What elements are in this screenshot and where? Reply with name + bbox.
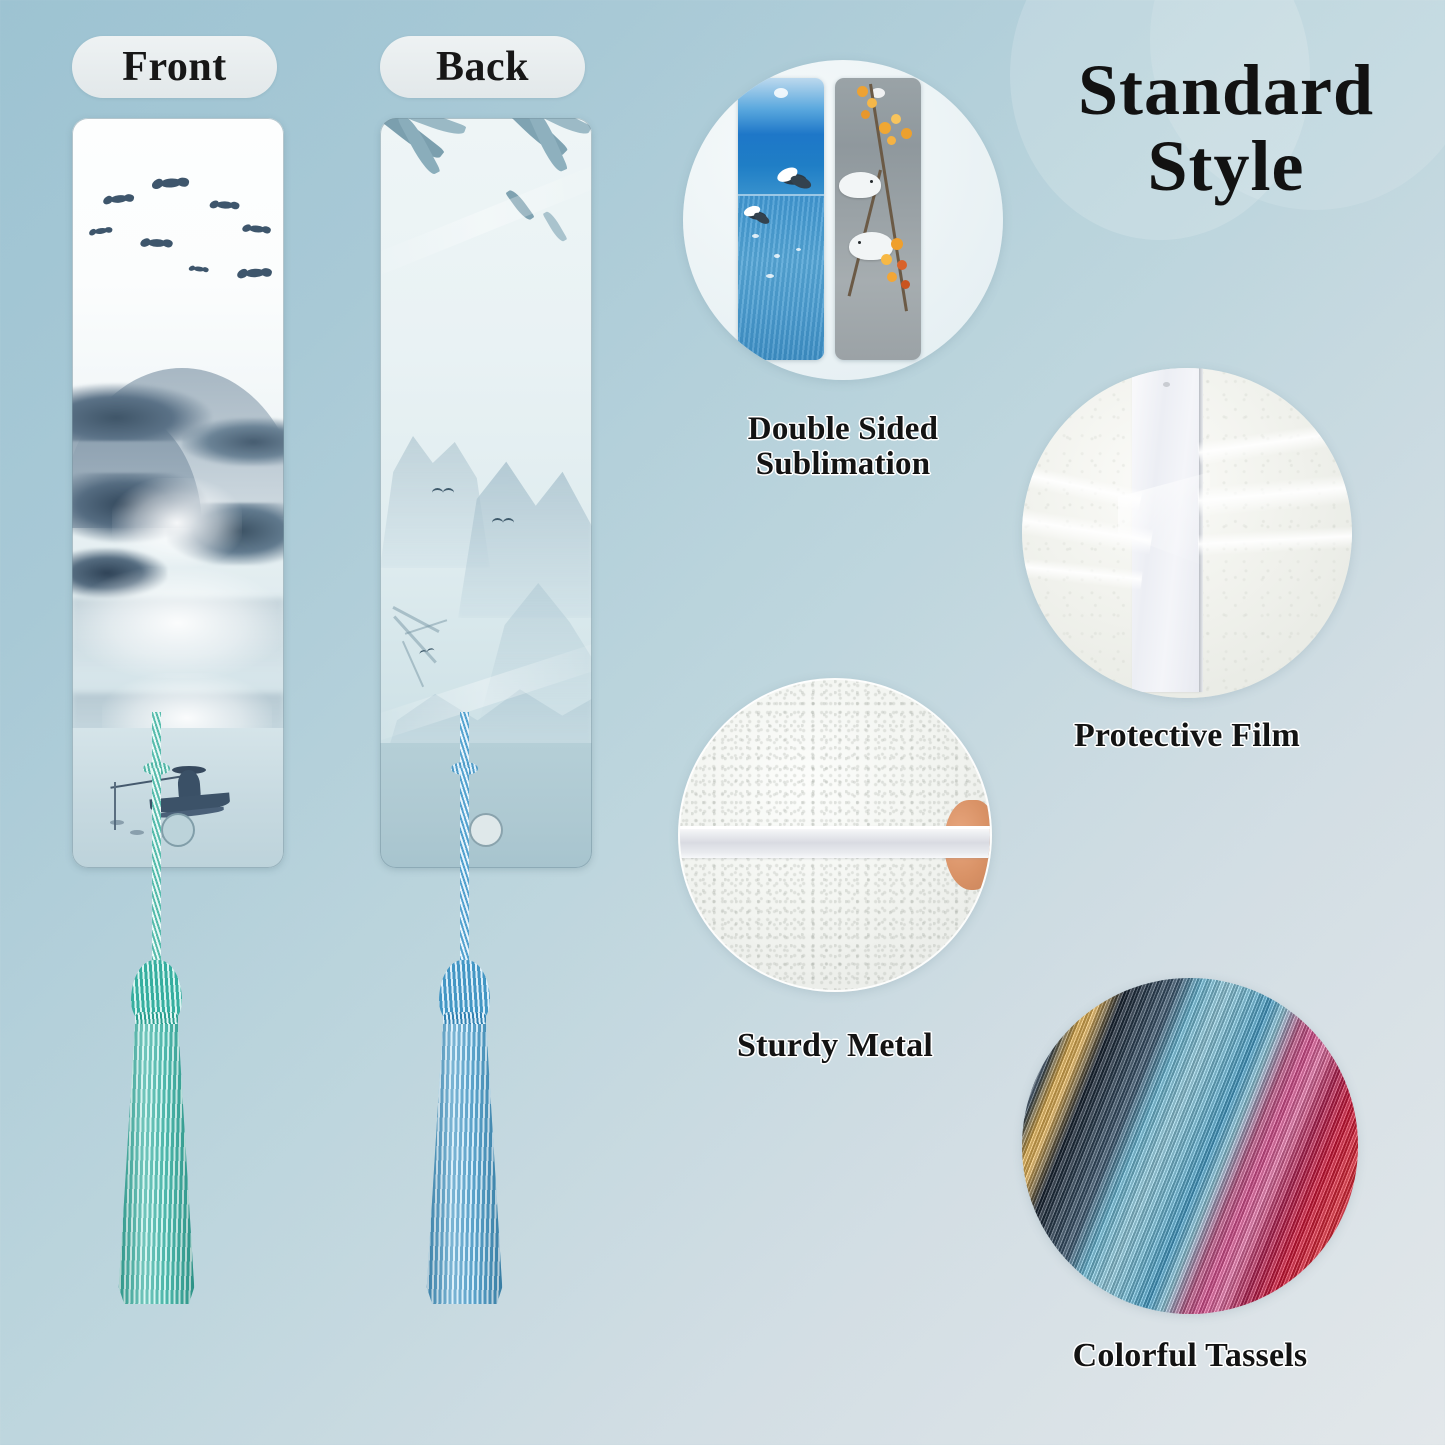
- feature-label-line-1: Double Sided: [748, 411, 938, 447]
- mist-highlight-2: [72, 568, 284, 678]
- mist-highlight-1: [112, 478, 242, 568]
- front-view-label: Front: [72, 36, 277, 98]
- gull-icon: [432, 488, 454, 496]
- distant-bird-speck: [796, 248, 801, 251]
- front-artwork: [72, 118, 284, 868]
- feature-label-line-1: Sturdy Metal: [737, 1027, 933, 1064]
- small-fish-mark: [130, 830, 144, 835]
- back-artwork: [380, 118, 592, 868]
- thumbnail-birds-on-berry-branch: [835, 78, 921, 360]
- tassel-skirt: [118, 1024, 195, 1304]
- berry: [857, 86, 868, 97]
- feature-label-double-sided-sublimation: Double Sided Sublimation: [683, 412, 1003, 482]
- page-title: Standard Style: [1026, 52, 1426, 205]
- berry: [879, 122, 891, 134]
- berry: [891, 114, 901, 124]
- feature-label-line-2: Sublimation: [756, 446, 931, 482]
- flying-bird-icon: [193, 266, 205, 272]
- berry: [861, 110, 870, 119]
- berry: [887, 136, 896, 145]
- bookmark-back-view[interactable]: [380, 118, 592, 868]
- metal-strip: [680, 826, 992, 858]
- bamboo-stem: [405, 619, 447, 634]
- feature-label-line-1: Protective Film: [1074, 717, 1300, 754]
- bird-eye: [870, 180, 873, 183]
- page-title-line-2: Style: [1026, 128, 1426, 204]
- bookmark-front-view[interactable]: [72, 118, 284, 868]
- berry: [891, 238, 903, 250]
- flying-bird-icon: [216, 201, 233, 209]
- berry: [881, 254, 892, 265]
- flying-bird-icon: [110, 194, 128, 203]
- white-bird-upper: [839, 172, 881, 198]
- seabird-wing-dark: [789, 173, 813, 191]
- misty-mountain-2: [458, 448, 592, 618]
- back-view-label: Back: [380, 36, 585, 98]
- thumbnail-tassel-hole: [774, 88, 788, 98]
- tassel-skirt-shading: [118, 1024, 195, 1304]
- feature-circle-protective-film: [1022, 368, 1352, 698]
- metal-strip-highlight: [680, 826, 992, 829]
- feature-circle-double-sided-sublimation: [683, 60, 1003, 380]
- foreground-water: [380, 743, 592, 868]
- gull-icon: [492, 518, 514, 526]
- tassel-cord-lower: [152, 768, 161, 968]
- flying-bird-icon: [249, 225, 266, 233]
- feature-label-sturdy-metal: Sturdy Metal: [672, 1028, 998, 1064]
- feature-circle-colorful-tassels: [1022, 978, 1358, 1314]
- berry: [897, 260, 907, 270]
- flying-bird-icon: [160, 178, 182, 188]
- bird-eye: [858, 241, 861, 244]
- feature-label-line-1: Colorful Tassels: [1073, 1337, 1308, 1374]
- berry: [901, 280, 910, 289]
- berry: [867, 98, 877, 108]
- distant-bird-speck: [766, 274, 774, 278]
- feature-label-protective-film: Protective Film: [1012, 718, 1362, 754]
- bamboo-stem: [393, 615, 437, 663]
- distant-bird-speck: [752, 234, 759, 238]
- flying-bird-icon: [245, 268, 265, 277]
- tassel-cord-lower: [460, 768, 469, 968]
- ocean-surface: [738, 196, 824, 360]
- tassel-skirt-shading: [426, 1024, 503, 1304]
- feature-label-colorful-tassels: Colorful Tassels: [1008, 1338, 1372, 1374]
- berry: [901, 128, 912, 139]
- small-fish-mark: [110, 820, 124, 825]
- flying-bird-icon: [94, 227, 108, 234]
- distant-bird-speck: [774, 254, 780, 258]
- thumbnail-seabirds-over-ocean: [738, 78, 824, 360]
- tassel-skirt: [426, 1024, 503, 1304]
- feature-circle-sturdy-metal: [678, 678, 992, 992]
- berry: [887, 272, 897, 282]
- tassel-hole: [161, 813, 195, 847]
- bookmark-hole-mark: [1163, 382, 1170, 387]
- surface-glare-1: [380, 160, 592, 278]
- thread-fiber-texture-coarse: [1022, 978, 1358, 1314]
- page-title-line-1: Standard: [1078, 50, 1374, 130]
- flying-bird-icon: [148, 239, 166, 247]
- bamboo-leaf: [543, 210, 568, 244]
- tassel-hole: [469, 813, 503, 847]
- ink-wash-blot-2: [182, 418, 284, 466]
